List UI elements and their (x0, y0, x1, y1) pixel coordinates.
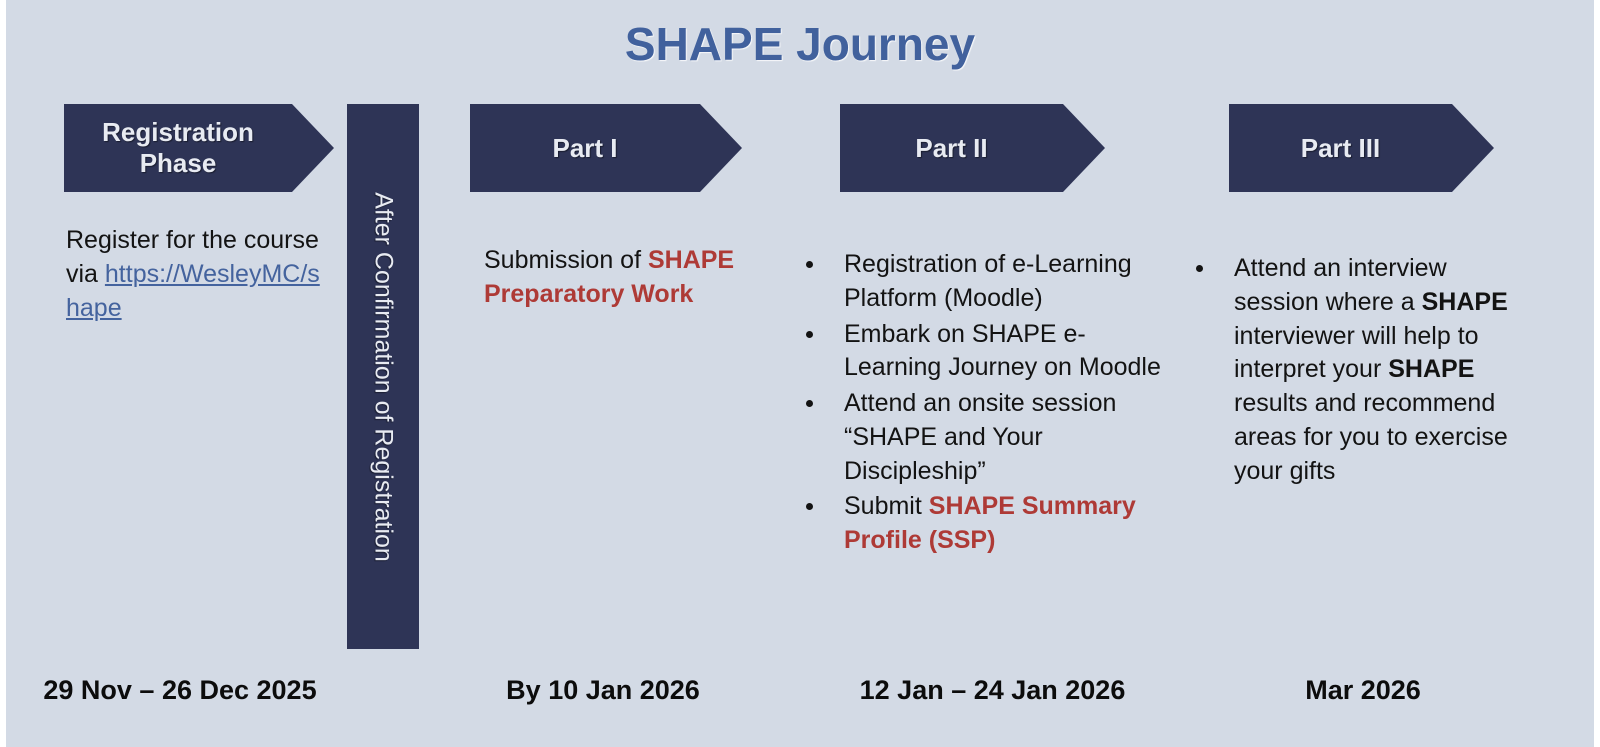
bullet-dot-icon (806, 331, 813, 338)
registration-link[interactable]: https://WesleyMC/shape (66, 260, 320, 322)
vertical-band-label: After Confirmation of Registration (369, 192, 398, 562)
part-2-bullet-4-prefix: Submit (844, 492, 929, 520)
banner-part-2-label: Part II (915, 133, 987, 164)
list-item: Embark on SHAPE e-Learning Journey on Mo… (800, 318, 1178, 386)
bullet-dot-icon (806, 261, 813, 268)
banner-part-1: Part I (470, 104, 742, 192)
date-registration-phase: 29 Nov – 26 Dec 2025 (20, 675, 340, 706)
body-part-3: Attend an interview session where a SHAP… (1190, 252, 1535, 490)
bullet-dot-icon (1196, 265, 1203, 272)
part-3-bullet-1-bold-2: SHAPE (1388, 355, 1474, 383)
banner-registration-phase-line1: Registration (102, 117, 254, 147)
part-2-bullet-list: Registration of e-Learning Platform (Moo… (800, 248, 1178, 558)
part-2-bullet-1-text: Registration of e-Learning Platform (Moo… (844, 250, 1132, 312)
body-part-1: Submission of SHAPE Preparatory Work (484, 244, 756, 312)
banner-registration-phase-label: Registration Phase (102, 117, 254, 178)
banner-registration-phase-line2: Phase (140, 148, 217, 178)
list-item: Attend an interview session where a SHAP… (1190, 252, 1535, 488)
right-edge-gutter (1594, 0, 1600, 747)
part-1-plain-prefix: Submission of (484, 246, 648, 274)
left-edge-gutter (0, 0, 6, 747)
part-3-bullet-list: Attend an interview session where a SHAP… (1190, 252, 1535, 488)
part-3-bullet-1-segment-3: results and recommend areas for you to e… (1234, 389, 1508, 485)
date-part-1: By 10 Jan 2026 (448, 675, 758, 706)
part-2-bullet-2-text: Embark on SHAPE e-Learning Journey on Mo… (844, 320, 1161, 382)
list-item: Registration of e-Learning Platform (Moo… (800, 248, 1178, 316)
banner-part-2: Part II (840, 104, 1105, 192)
page-title: SHAPE Journey (0, 17, 1600, 71)
shape-journey-slide: SHAPE Journey Registration Phase Part I … (0, 0, 1600, 747)
part-2-bullet-3-text: Attend an onsite session “SHAPE and Your… (844, 389, 1116, 485)
banner-part-3-label: Part III (1301, 133, 1380, 164)
vertical-band-after-confirmation: After Confirmation of Registration (347, 104, 419, 649)
body-part-2: Registration of e-Learning Platform (Moo… (800, 248, 1178, 560)
part-3-bullet-1-segment-1: Attend an interview session where a (1234, 254, 1447, 316)
banner-part-1-label: Part I (552, 133, 617, 164)
body-registration-phase: Register for the course via https://Wesl… (66, 224, 321, 325)
bullet-dot-icon (806, 400, 813, 407)
banner-part-3: Part III (1229, 104, 1494, 192)
date-part-3: Mar 2026 (1208, 675, 1518, 706)
date-part-2: 12 Jan – 24 Jan 2026 (825, 675, 1160, 706)
list-item: Submit SHAPE Summary Profile (SSP) (800, 490, 1178, 558)
part-3-bullet-1-bold-1: SHAPE (1422, 288, 1508, 316)
banner-registration-phase: Registration Phase (64, 104, 334, 192)
list-item: Attend an onsite session “SHAPE and Your… (800, 387, 1178, 488)
bullet-dot-icon (806, 503, 813, 510)
